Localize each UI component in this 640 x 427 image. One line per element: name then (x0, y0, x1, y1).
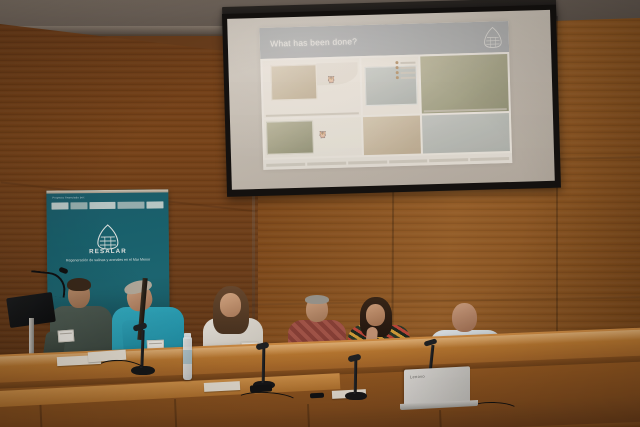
footer-logo (266, 162, 305, 166)
footer-logo (307, 161, 346, 165)
banner-subtitle: Regeneración de salinas y arenales en el… (57, 257, 159, 263)
small-device (310, 393, 324, 399)
projection-screen-surface: What has been done? 🦉 (227, 10, 555, 190)
legend-dot-icon (396, 62, 399, 65)
slide-photo-cell (361, 57, 420, 115)
legend-label (401, 72, 415, 74)
slide-photo-lagoon (266, 121, 313, 155)
panelist-hair (67, 278, 91, 291)
banner-sponsor-logos (51, 200, 163, 210)
legend-label (401, 62, 415, 64)
resalar-logo-icon (93, 224, 123, 250)
resalar-logo-icon (482, 26, 503, 49)
legend-dot-icon (396, 77, 399, 80)
presentation-slide: What has been done? 🦉 (260, 21, 513, 170)
legend-item (396, 66, 415, 70)
water-bottle-label (183, 350, 192, 364)
conference-room-photo: What has been done? 🦉 (0, 0, 640, 427)
footer-logo (470, 157, 509, 161)
panelist-hair (305, 295, 329, 304)
papers (204, 381, 240, 392)
panelist-face (220, 293, 241, 317)
slide-photo-dune (317, 62, 358, 86)
microphone-stem (354, 360, 358, 394)
footer-logo (389, 159, 428, 163)
legend-label (401, 67, 415, 69)
legend-item (396, 76, 415, 80)
slide-legend (396, 61, 416, 82)
slide-photo-cell: 🦉 (263, 59, 361, 118)
banner-title: RESALAR (47, 247, 169, 255)
slide-photo-flamingos (422, 113, 510, 154)
laptop-brand-label: Lenovo (410, 374, 425, 380)
slide-photo-fieldwork (270, 64, 317, 100)
sponsor-logo (147, 201, 164, 208)
name-badge (58, 329, 75, 342)
legend-label (401, 77, 415, 79)
slide-photo-cell: 🦉 (264, 117, 361, 158)
remote-control (250, 384, 272, 392)
slide-photo-saltmarsh (420, 55, 509, 114)
footer-logo (430, 158, 469, 162)
sponsor-logo (70, 202, 87, 209)
bird-illustration: 🦉 (318, 131, 329, 139)
slide-title: What has been done? (270, 36, 357, 48)
panelist-face (366, 304, 385, 326)
legend-item (396, 61, 415, 65)
slide-caption (266, 112, 358, 117)
sponsor-logo (89, 202, 116, 209)
sponsor-logo (118, 202, 145, 209)
banner-eyebrow: Proyecto financiado por: (52, 196, 85, 199)
legend-dot-icon (396, 72, 399, 75)
projection-screen: What has been done? 🦉 (222, 5, 561, 197)
slide-caption (423, 108, 506, 112)
slide-photo-vegetation (363, 115, 421, 155)
slide-content-grid: 🦉 (261, 52, 512, 160)
legend-item (396, 71, 415, 75)
panelist-head (452, 303, 477, 332)
legend-dot-icon (396, 67, 399, 70)
bird-illustration: 🦉 (326, 76, 337, 84)
footer-logo (348, 160, 387, 164)
sponsor-logo (51, 202, 68, 209)
banner-rail (46, 189, 168, 193)
microphone-stem (262, 348, 266, 383)
